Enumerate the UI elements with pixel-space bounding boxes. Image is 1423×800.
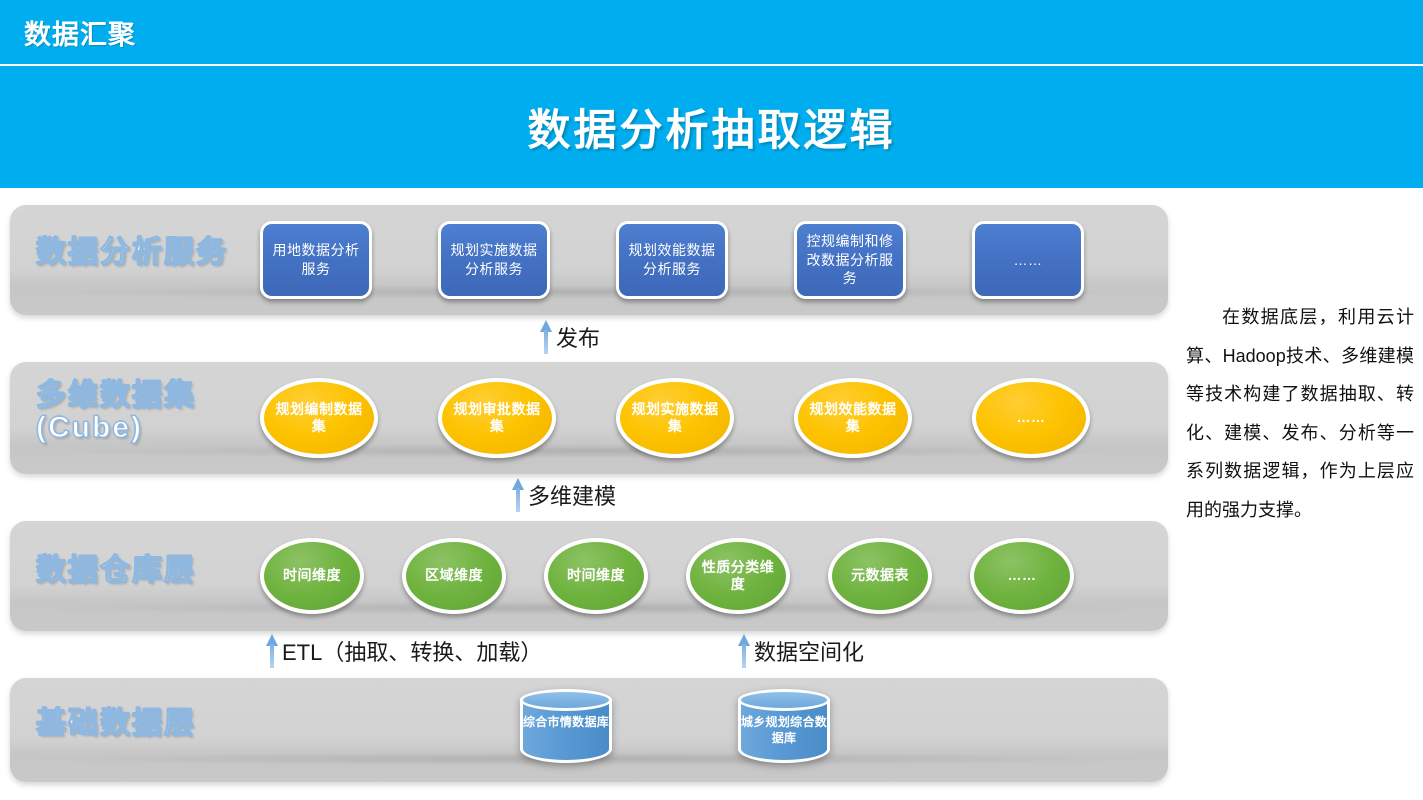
node-cube-more[interactable]: …… xyxy=(972,378,1090,458)
node-cube-2[interactable]: 规划审批数据集 xyxy=(438,378,556,458)
layer-label-line-2: (Cube) xyxy=(36,412,196,444)
node-dimension-4[interactable]: 性质分类维度 xyxy=(686,538,790,614)
arrow-publish: 发布 xyxy=(540,320,600,354)
description-text: 在数据底层，利用云计算、Hadoop技术、多维建模等技术构建了数据抽取、转化、建… xyxy=(1186,298,1414,529)
node-dimension-3[interactable]: 时间维度 xyxy=(544,538,648,614)
node-database-2[interactable]: 城乡规划综合数据库 xyxy=(738,689,830,771)
node-analysis-service-3[interactable]: 规划效能数据分析服务 xyxy=(616,221,728,299)
node-database-2-label: 城乡规划综合数据库 xyxy=(738,715,830,746)
layer-label-base-data: 基础数据层 xyxy=(36,708,196,740)
layer-label-data-warehouse: 数据仓库层 xyxy=(36,555,196,587)
node-analysis-service-4[interactable]: 控规编制和修改数据分析服务 xyxy=(794,221,906,299)
node-analysis-service-more[interactable]: …… xyxy=(972,221,1084,299)
arrow-shaft xyxy=(270,644,274,668)
layer-band-base-data: 基础数据层 综合市情数据库 城乡规划综合数据库 xyxy=(10,678,1168,782)
layer-band-data-warehouse: 数据仓库层 时间维度 区域维度 时间维度 性质分类维度 元数据表 …… xyxy=(10,521,1168,631)
layer-label-line-1: 多维数据集 xyxy=(36,380,196,412)
arrow-up-icon xyxy=(512,478,524,512)
arrow-shaft xyxy=(544,330,548,354)
arrow-label-etl: ETL（抽取、转换、加载） xyxy=(282,635,542,667)
page-title: 数据分析抽取逻辑 xyxy=(0,96,1423,158)
node-dimension-1[interactable]: 时间维度 xyxy=(260,538,364,614)
node-dimension-5[interactable]: 元数据表 xyxy=(828,538,932,614)
node-analysis-service-2[interactable]: 规划实施数据分析服务 xyxy=(438,221,550,299)
cylinder-top xyxy=(520,689,612,711)
layer-label-multidimensional-dataset: 多维数据集 (Cube) xyxy=(36,380,196,445)
node-analysis-service-1[interactable]: 用地数据分析服务 xyxy=(260,221,372,299)
header-band xyxy=(0,0,1423,64)
arrow-shaft xyxy=(742,644,746,668)
node-database-1-label: 综合市情数据库 xyxy=(520,715,612,731)
node-dimension-more[interactable]: …… xyxy=(970,538,1074,614)
arrow-shaft xyxy=(516,488,520,512)
node-cube-4[interactable]: 规划效能数据集 xyxy=(794,378,912,458)
layer-nodes-data-analysis-service: 用地数据分析服务 规划实施数据分析服务 规划效能数据分析服务 控规编制和修改数据… xyxy=(260,205,1084,315)
layer-nodes-multidimensional-dataset: 规划编制数据集 规划审批数据集 规划实施数据集 规划效能数据集 …… xyxy=(260,362,1090,474)
arrow-etl: ETL（抽取、转换、加载） xyxy=(266,634,542,668)
header-title: 数据汇聚 xyxy=(24,13,136,52)
layer-nodes-data-warehouse: 时间维度 区域维度 时间维度 性质分类维度 元数据表 …… xyxy=(260,521,1074,631)
layer-band-data-analysis-service: 数据分析服务 用地数据分析服务 规划实施数据分析服务 规划效能数据分析服务 控规… xyxy=(10,205,1168,315)
arrow-up-icon xyxy=(540,320,552,354)
layer-band-multidimensional-dataset: 多维数据集 (Cube) 规划编制数据集 规划审批数据集 规划实施数据集 规划效… xyxy=(10,362,1168,474)
node-cube-3[interactable]: 规划实施数据集 xyxy=(616,378,734,458)
node-dimension-2[interactable]: 区域维度 xyxy=(402,538,506,614)
arrow-up-icon xyxy=(266,634,278,668)
arrow-label-multidimensional-modeling: 多维建模 xyxy=(528,479,616,511)
layer-label-data-analysis-service: 数据分析服务 xyxy=(36,237,228,269)
node-database-1[interactable]: 综合市情数据库 xyxy=(520,689,612,771)
arrow-label-spatialization: 数据空间化 xyxy=(754,635,864,667)
cylinder-top xyxy=(738,689,830,711)
layer-nodes-base-data: 综合市情数据库 城乡规划综合数据库 xyxy=(520,678,830,782)
arrow-spatialization: 数据空间化 xyxy=(738,634,864,668)
arrow-multidimensional-modeling: 多维建模 xyxy=(512,478,616,512)
arrow-label-publish: 发布 xyxy=(556,321,600,353)
node-cube-1[interactable]: 规划编制数据集 xyxy=(260,378,378,458)
arrow-up-icon xyxy=(738,634,750,668)
